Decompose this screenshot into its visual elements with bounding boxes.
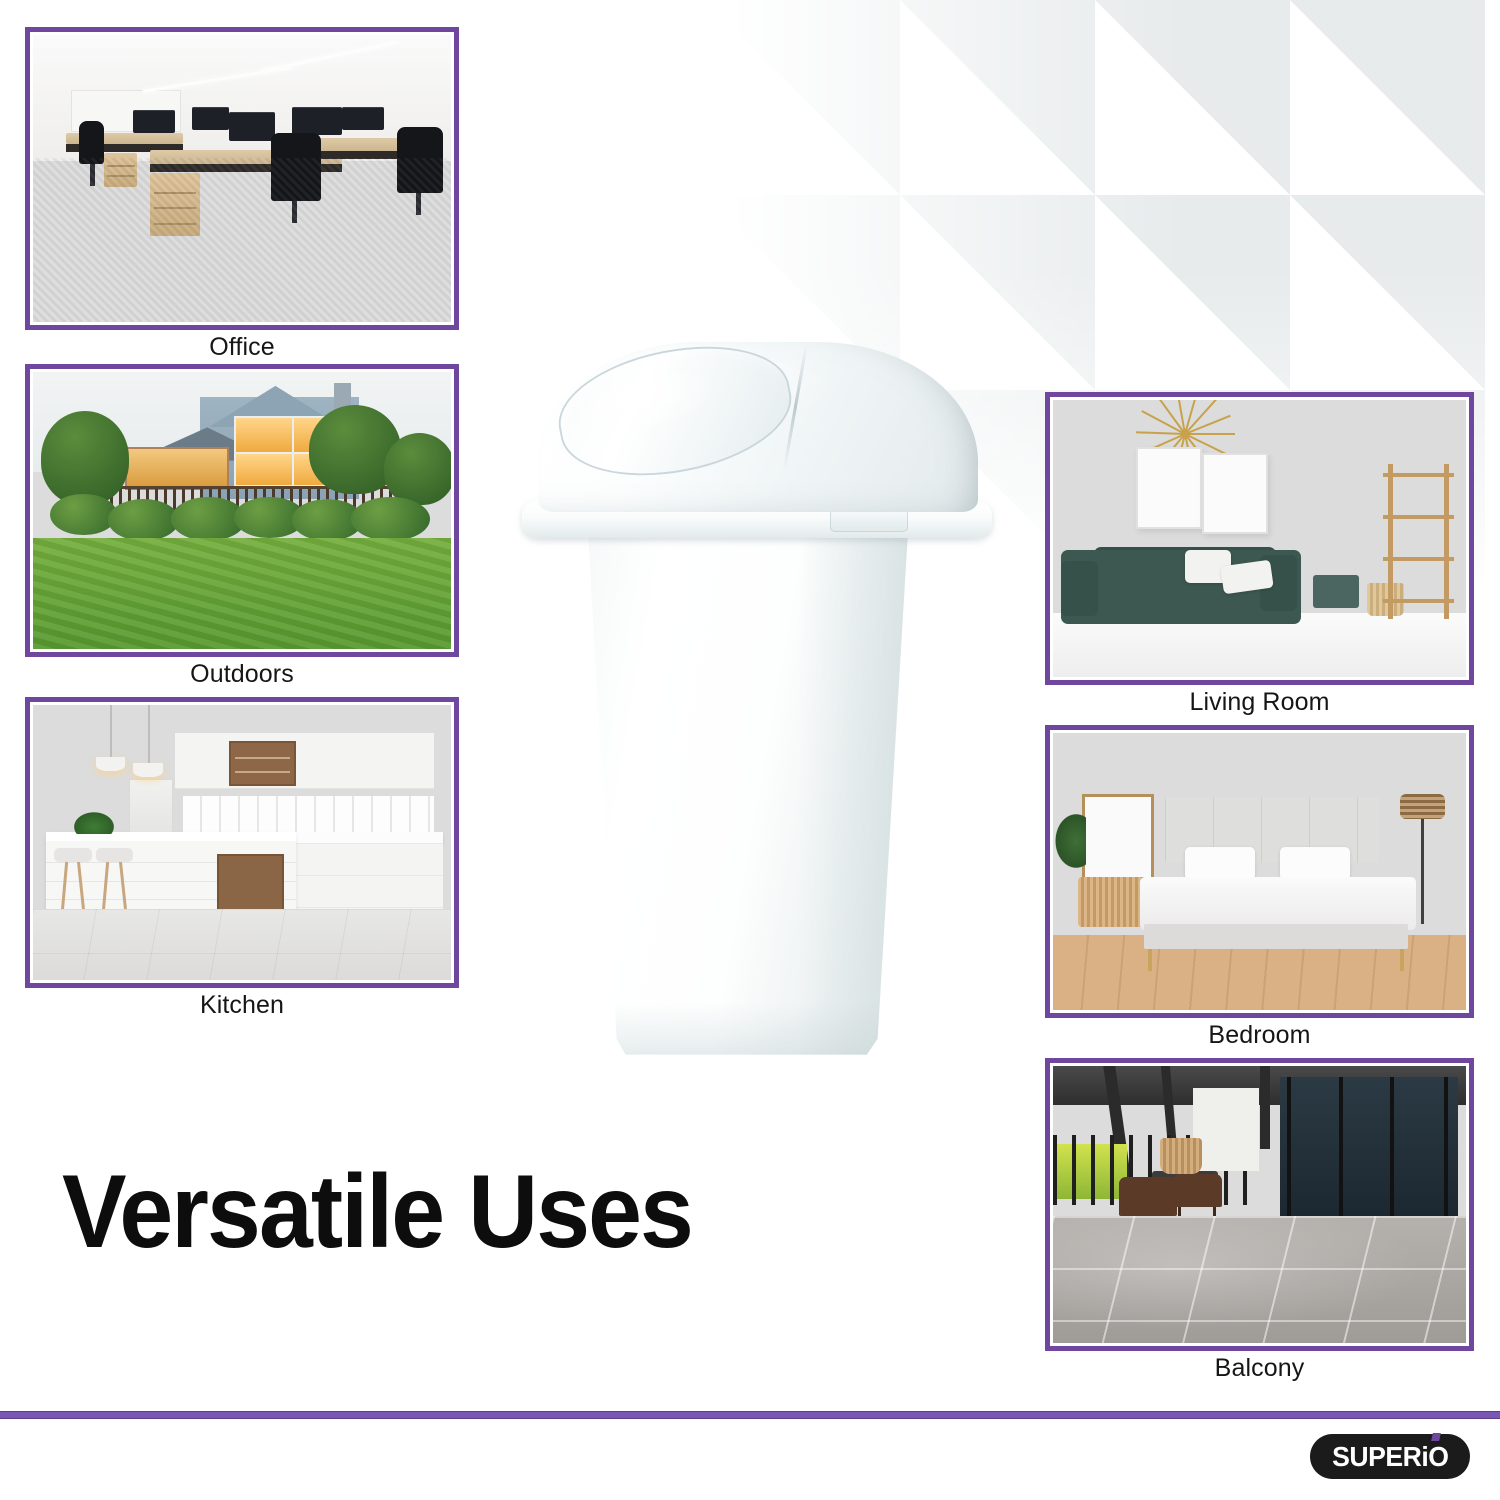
trash-can-body: [568, 528, 928, 1060]
caption-kitchen: Kitchen: [25, 991, 459, 1020]
marketing-image-canvas: Office Outdoors: [0, 0, 1500, 1500]
footer-divider: [0, 1411, 1500, 1419]
caption-balcony: Balcony: [1045, 1354, 1474, 1383]
photo-living-room: [1053, 400, 1466, 677]
page-title: Versatile Uses: [62, 1160, 825, 1264]
caption-bedroom: Bedroom: [1045, 1021, 1474, 1050]
logo-accent-dot: [1431, 1433, 1441, 1441]
photo-frame-outdoors[interactable]: [25, 364, 459, 657]
photo-frame-balcony[interactable]: [1045, 1058, 1474, 1351]
photo-office: [33, 35, 451, 322]
photo-frame-kitchen[interactable]: [25, 697, 459, 988]
photo-balcony: [1053, 1066, 1466, 1343]
product-image-trash-can: [508, 330, 1028, 1060]
photo-kitchen: [33, 705, 451, 980]
photo-frame-bedroom[interactable]: [1045, 725, 1474, 1018]
photo-bedroom: [1053, 733, 1466, 1010]
superio-logo: SUPERiO: [1310, 1434, 1470, 1479]
caption-living-room: Living Room: [1045, 688, 1474, 717]
photo-frame-living-room[interactable]: [1045, 392, 1474, 685]
superio-logo-text: SUPERiO: [1332, 1441, 1448, 1473]
caption-office: Office: [25, 333, 459, 362]
photo-frame-office[interactable]: [25, 27, 459, 330]
photo-outdoors: [33, 372, 451, 649]
caption-outdoors: Outdoors: [25, 660, 459, 689]
